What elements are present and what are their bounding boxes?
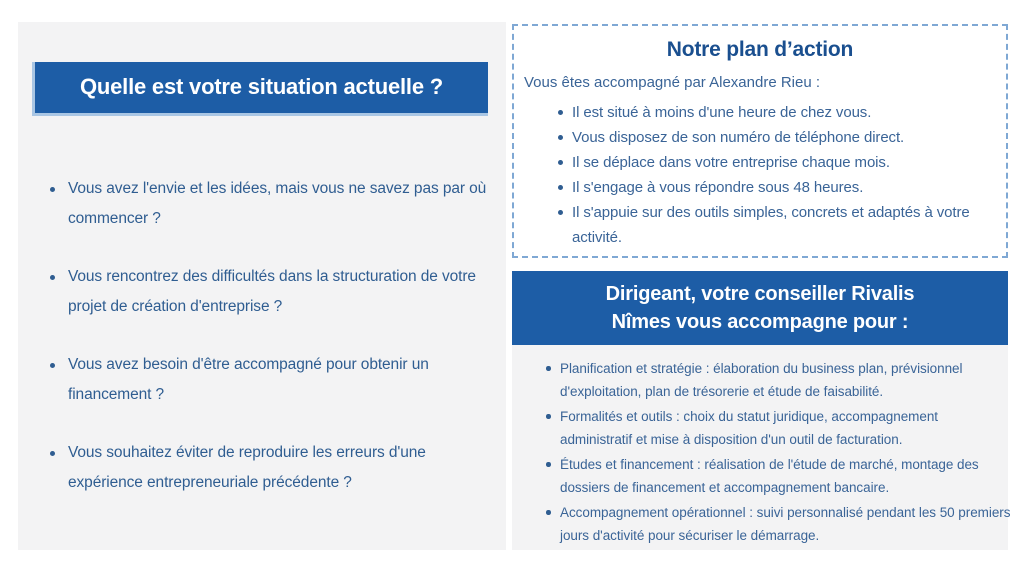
services-panel-title-line1: Dirigeant, votre conseiller Rivalis: [606, 283, 915, 305]
list-item: Accompagnement opérationnel : suivi pers…: [546, 501, 1012, 547]
list-item: Vous rencontrez des difficultés dans la …: [46, 262, 496, 322]
services-list: Planification et stratégie : élaboration…: [532, 357, 1012, 549]
slide-canvas: Quelle est votre situation actuelle ? Vo…: [0, 0, 1024, 570]
list-item: Il s'engage à vous répondre sous 48 heur…: [558, 175, 1006, 200]
list-item: Vous avez besoin d'être accompagné pour …: [46, 350, 496, 410]
situation-panel-title: Quelle est votre situation actuelle ?: [80, 75, 443, 99]
action-plan-intro: Vous êtes accompagné par Alexandre Rieu …: [524, 72, 1006, 94]
list-item: Études et financement : réalisation de l…: [546, 453, 1012, 499]
action-plan-list: Il est situé à moins d'une heure de chez…: [514, 100, 1006, 250]
services-panel-title: Dirigeant, votre conseiller Rivalis Nîme…: [606, 280, 915, 336]
services-panel: Dirigeant, votre conseiller Rivalis Nîme…: [512, 271, 1008, 550]
action-plan-panel: Notre plan d’action Vous êtes accompagné…: [512, 24, 1008, 258]
list-item: Vous avez l'envie et les idées, mais vou…: [46, 174, 496, 234]
list-item: Formalités et outils : choix du statut j…: [546, 405, 1012, 451]
list-item: Planification et stratégie : élaboration…: [546, 357, 1012, 403]
services-panel-title-line2: Nîmes vous accompagne pour :: [612, 311, 909, 333]
list-item: Vous souhaitez éviter de reproduire les …: [46, 438, 496, 498]
situation-panel-header: Quelle est votre situation actuelle ?: [32, 62, 488, 116]
services-panel-header: Dirigeant, votre conseiller Rivalis Nîme…: [512, 271, 1008, 345]
list-item: Il est situé à moins d'une heure de chez…: [558, 100, 1006, 125]
list-item: Il s'appuie sur des outils simples, conc…: [558, 200, 1006, 250]
list-item: Il se déplace dans votre entreprise chaq…: [558, 150, 1006, 175]
list-item: Vous disposez de son numéro de téléphone…: [558, 125, 1006, 150]
action-plan-title: Notre plan d’action: [514, 38, 1006, 62]
situation-panel: Quelle est votre situation actuelle ? Vo…: [18, 22, 506, 550]
situation-question-list: Vous avez l'envie et les idées, mais vou…: [46, 174, 496, 526]
